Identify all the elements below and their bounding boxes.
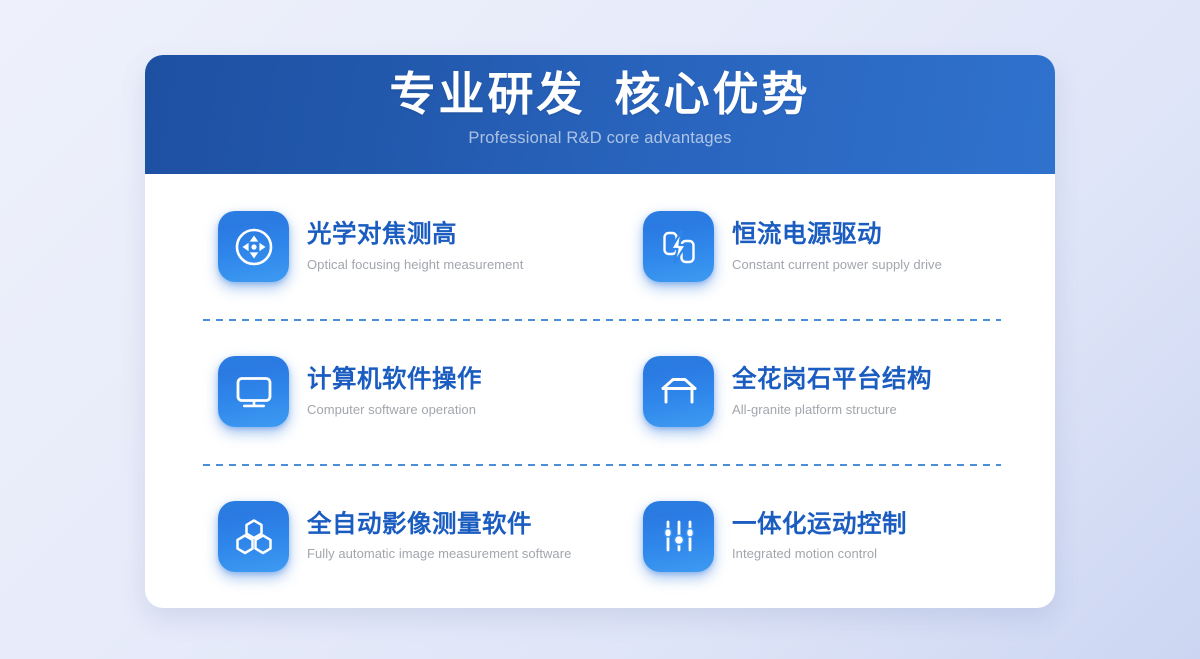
feature-item-granite-platform[interactable]: 全花岗石平台结构 All-granite platform structure <box>600 319 1055 464</box>
page-title: 专业研发 核心优势 <box>390 68 811 122</box>
feature-text: 一体化运动控制 Integrated motion control <box>732 511 907 561</box>
section-divider-1 <box>203 319 1001 321</box>
page-stage: 专业研发 核心优势 Professional R&D core advantag… <box>0 0 1200 659</box>
feature-text: 全花岗石平台结构 All-granite platform structure <box>732 366 932 416</box>
feature-text: 计算机软件操作 Computer software operation <box>307 366 482 416</box>
feature-grid: 光学对焦测高 Optical focusing height measureme… <box>145 174 1055 608</box>
feature-desc: Constant current power supply drive <box>732 257 942 272</box>
feature-desc: Fully automatic image measurement softwa… <box>307 546 571 561</box>
feature-title: 一体化运动控制 <box>732 511 907 539</box>
monitor-icon <box>218 356 289 427</box>
feature-item-computer-software[interactable]: 计算机软件操作 Computer software operation <box>145 319 600 464</box>
granite-platform-table-icon <box>643 356 714 427</box>
feature-desc: Integrated motion control <box>732 546 907 561</box>
feature-title: 光学对焦测高 <box>307 221 523 249</box>
feature-item-optical-focus[interactable]: 光学对焦测高 Optical focusing height measureme… <box>145 174 600 319</box>
feature-text: 恒流电源驱动 Constant current power supply dri… <box>732 221 942 271</box>
card-body: 光学对焦测高 Optical focusing height measureme… <box>145 174 1055 608</box>
section-divider-2 <box>203 464 1001 466</box>
feature-item-image-measurement[interactable]: 全自动影像测量软件 Fully automatic image measurem… <box>145 464 600 608</box>
feature-title: 计算机软件操作 <box>307 366 482 394</box>
sliders-equalizer-icon <box>643 501 714 572</box>
optical-focus-dpad-icon <box>218 211 289 282</box>
feature-item-constant-current[interactable]: 恒流电源驱动 Constant current power supply dri… <box>600 174 1055 319</box>
feature-text: 光学对焦测高 Optical focusing height measureme… <box>307 221 523 271</box>
card-header: 专业研发 核心优势 Professional R&D core advantag… <box>145 55 1055 174</box>
advantages-card: 专业研发 核心优势 Professional R&D core advantag… <box>145 55 1055 608</box>
feature-desc: Optical focusing height measurement <box>307 257 523 272</box>
feature-desc: All-granite platform structure <box>732 402 932 417</box>
hexagon-cluster-icon <box>218 501 289 572</box>
battery-lightning-icon <box>643 211 714 282</box>
feature-title: 全花岗石平台结构 <box>732 366 932 394</box>
feature-text: 全自动影像测量软件 Fully automatic image measurem… <box>307 511 571 561</box>
page-subtitle: Professional R&D core advantages <box>468 129 731 148</box>
feature-item-motion-control[interactable]: 一体化运动控制 Integrated motion control <box>600 464 1055 608</box>
feature-title: 全自动影像测量软件 <box>307 511 571 539</box>
feature-desc: Computer software operation <box>307 402 482 417</box>
feature-title: 恒流电源驱动 <box>732 221 942 249</box>
